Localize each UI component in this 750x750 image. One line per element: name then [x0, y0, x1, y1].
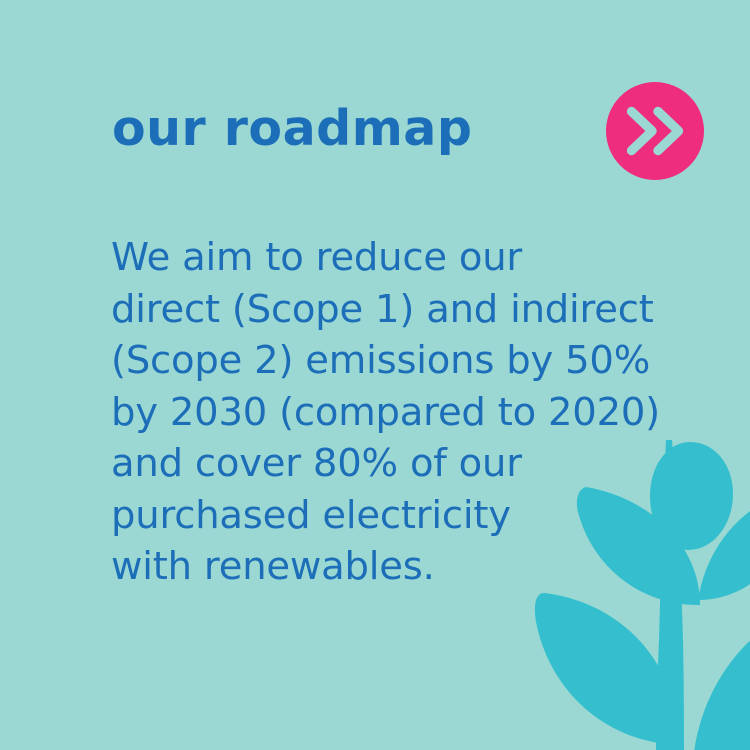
- body-copy-line: direct (Scope 1) and indirect: [111, 284, 671, 336]
- body-copy-line: with renewables.: [111, 541, 671, 593]
- body-copy-line: (Scope 2) emissions by 50%: [111, 335, 671, 387]
- page-title: our roadmap: [112, 104, 472, 153]
- body-copy-line: and cover 80% of our: [111, 438, 671, 490]
- roadmap-infographic-card: our roadmap We aim to reduce ourdirect (…: [0, 0, 750, 750]
- brand-logo[interactable]: [606, 82, 704, 180]
- body-copy-line: purchased electricity: [111, 490, 671, 542]
- body-copy: We aim to reduce ourdirect (Scope 1) and…: [111, 232, 671, 593]
- body-copy-line: by 2030 (compared to 2020): [111, 387, 671, 439]
- body-copy-line: We aim to reduce our: [111, 232, 671, 284]
